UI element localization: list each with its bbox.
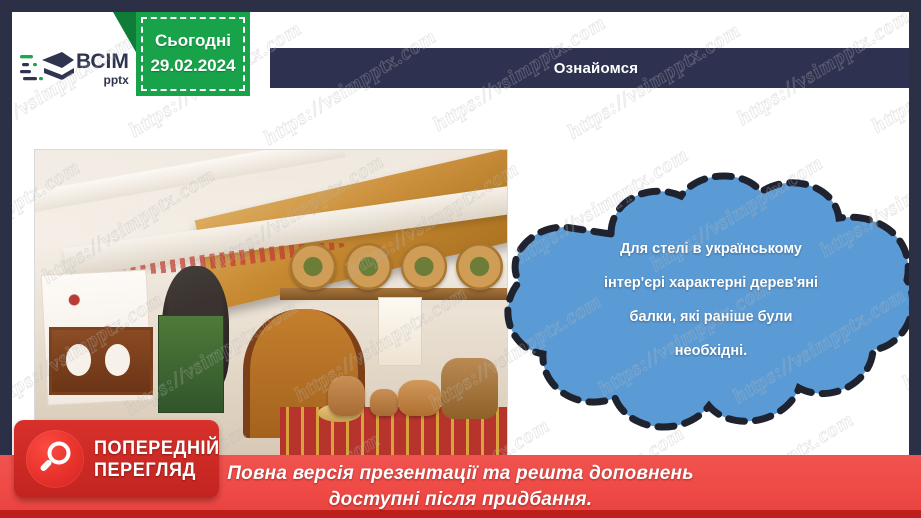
photo-plate bbox=[401, 243, 448, 290]
preview-badge-text: ПОПЕРЕДНІЙ ПЕРЕГЛЯД bbox=[94, 439, 226, 480]
brand-logo[interactable]: ВСІМ pptx bbox=[20, 44, 140, 92]
cloud-text-line: інтер'єрі характерні дерев'яні bbox=[551, 266, 871, 300]
cloud-callout: Для стелі в українському інтер'єрі харак… bbox=[499, 170, 909, 448]
photo-content bbox=[35, 150, 507, 456]
preview-badge-line-2: ПЕРЕГЛЯД bbox=[94, 461, 220, 480]
interior-photo bbox=[34, 149, 508, 457]
date-tag-label: Сьогодні bbox=[155, 29, 231, 54]
photo-clay-pot bbox=[328, 376, 366, 416]
presentation-slide: Для стелі в українському інтер'єрі харак… bbox=[0, 0, 921, 518]
photo-plate bbox=[290, 243, 337, 290]
photo-clay-pot bbox=[398, 380, 440, 417]
photo-plate bbox=[345, 243, 392, 290]
cloud-text-line: Для стелі в українському bbox=[551, 232, 871, 266]
cloud-text-line: балки, які раніше були bbox=[551, 300, 871, 334]
photo-clay-pot bbox=[370, 389, 398, 417]
preview-badge-line-1: ПОПЕРЕДНІЙ bbox=[94, 439, 220, 458]
date-tag: Сьогодні 29.02.2024 bbox=[136, 12, 250, 96]
preview-badge[interactable]: ПОПЕРЕДНІЙ ПЕРЕГЛЯД bbox=[14, 420, 219, 498]
photo-green-cupboard bbox=[158, 315, 224, 413]
photo-plates bbox=[285, 242, 507, 291]
graduation-cap-icon bbox=[20, 46, 74, 90]
photo-window bbox=[49, 327, 153, 394]
logo-wordmark: ВСІМ pptx bbox=[76, 51, 129, 86]
cloud-text-line: необхідні. bbox=[551, 334, 871, 368]
preview-badge-circle bbox=[26, 430, 84, 488]
cloud-text: Для стелі в українському інтер'єрі харак… bbox=[551, 232, 871, 368]
banner-line-1: Повна версія презентації та решта доповн… bbox=[227, 461, 693, 486]
banner-line-2: доступні після придбання. bbox=[329, 487, 593, 512]
photo-hanging-cloth bbox=[378, 297, 422, 366]
page-title: Ознайомся bbox=[554, 60, 639, 77]
magnifier-icon bbox=[37, 440, 73, 476]
logo-subname: pptx bbox=[76, 74, 129, 86]
header-bar: Ознайомся bbox=[270, 48, 909, 88]
logo-name: ВСІМ bbox=[76, 51, 129, 72]
photo-clay-ram-figure bbox=[441, 358, 498, 419]
date-tag-value: 29.02.2024 bbox=[150, 54, 235, 79]
photo-plate bbox=[456, 243, 503, 290]
